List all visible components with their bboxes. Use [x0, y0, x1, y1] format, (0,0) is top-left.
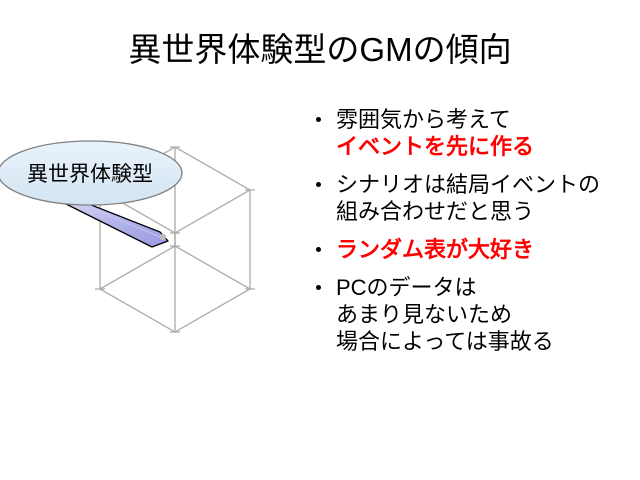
cube-center-vertex-marker	[160, 234, 166, 240]
page-title: 異世界体験型のGMの傾向	[0, 30, 640, 70]
bullet-dot-icon	[316, 247, 321, 252]
bullet-line: シナリオは結局イベントの	[336, 171, 635, 198]
bullet-line-accent: イベントを先に作る	[336, 133, 635, 160]
bullet-line: 場合によっては事故る	[336, 328, 635, 355]
bullet-dot-icon	[316, 285, 321, 290]
bullet-line-accent: ランダム表が大好き	[336, 236, 635, 263]
callout-ellipse-label: 異世界体験型	[27, 163, 153, 186]
bullet-list: 雰囲気から考えて イベントを先に作る シナリオは結局イベントの 組み合わせだと思…	[310, 106, 635, 355]
slide-canvas: 異世界体験型のGMの傾向	[0, 0, 640, 480]
list-item: ランダム表が大好き	[310, 236, 635, 263]
bullet-dot-icon	[316, 117, 321, 122]
bullet-dot-icon	[316, 182, 321, 187]
list-item: 雰囲気から考えて イベントを先に作る	[310, 106, 635, 160]
bullet-line: 組み合わせだと思う	[336, 198, 635, 225]
list-item: シナリオは結局イベントの 組み合わせだと思う	[310, 171, 635, 225]
bullet-line: あまり見ないため	[336, 301, 635, 328]
list-item: PCのデータは あまり見ないため 場合によっては事故る	[310, 274, 635, 355]
bullet-line: PCのデータは	[336, 274, 635, 301]
bullet-line: 雰囲気から考えて	[336, 106, 635, 133]
diagram-container: 異世界体験型	[0, 120, 300, 350]
